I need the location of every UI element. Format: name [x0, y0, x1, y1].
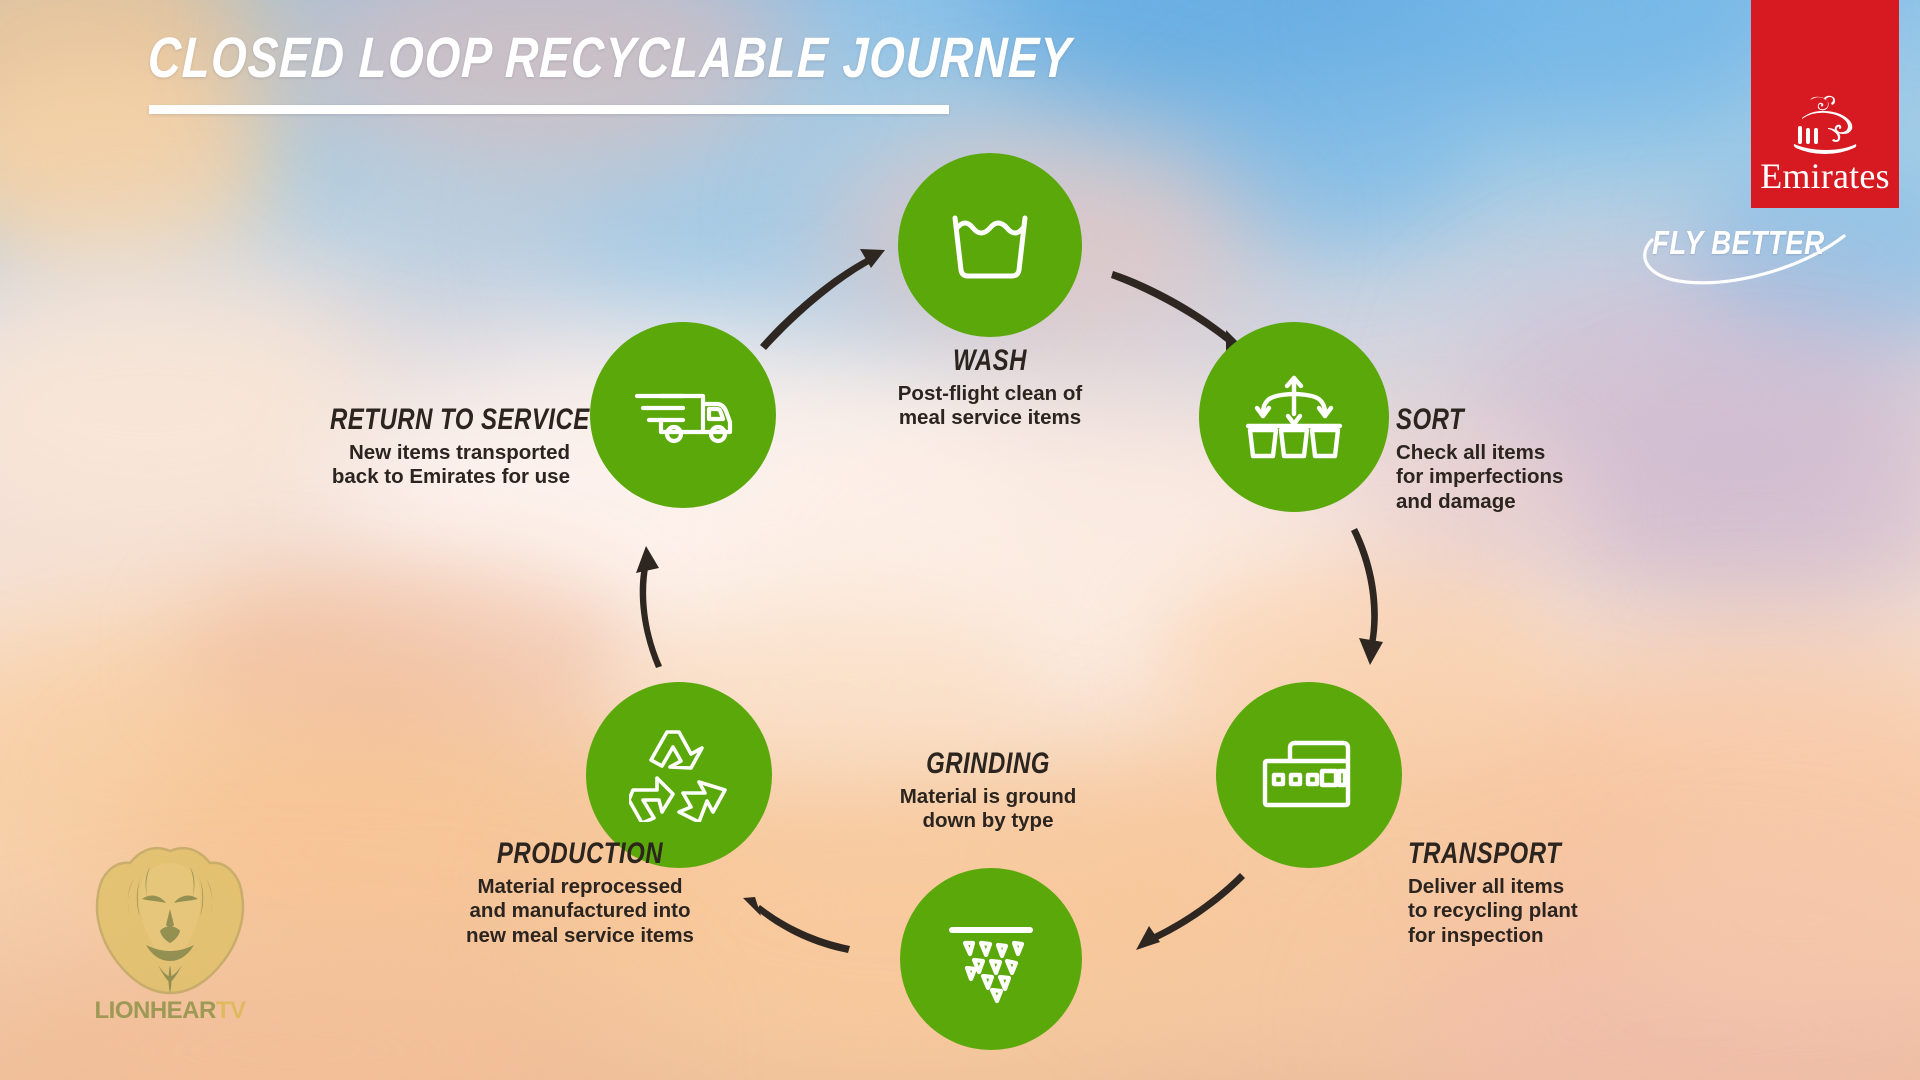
grinder-granules-icon [943, 913, 1039, 1005]
step-return-to-service-label: RETURN TO SERVICE [330, 404, 570, 436]
wash-basin-icon [947, 208, 1033, 282]
step-wash-label: WASH [868, 345, 1111, 377]
step-return-to-service-text: RETURN TO SERVICE New items transported … [270, 404, 570, 490]
watermark-label: LIONHEARTV [80, 997, 260, 1025]
delivery-truck-icon [631, 380, 735, 450]
step-transport-label: TRANSPORT [1408, 838, 1680, 870]
step-return-to-service-description: New items transported back to Emirates f… [270, 441, 570, 490]
emirates-wordmark: Emirates [1760, 158, 1890, 194]
step-grinding-text: GRINDING Material is ground down by type [838, 748, 1138, 834]
step-transport-text: TRANSPORT Deliver all items to recycling… [1408, 838, 1748, 948]
step-wash-description: Post-flight clean of meal service items [838, 382, 1142, 431]
step-transport-description: Deliver all items to recycling plant for… [1408, 875, 1748, 949]
step-grinding-circle[interactable] [900, 868, 1082, 1050]
emirates-logo: Emirates [1751, 0, 1899, 208]
step-sort-text: SORT Check all items for imperfections a… [1396, 404, 1726, 514]
step-wash-circle[interactable] [898, 153, 1082, 337]
sort-arrows-bins-icon [1244, 374, 1344, 460]
title-underline [149, 105, 949, 114]
step-production-label: PRODUCTION [428, 838, 732, 870]
fly-better-text: FLY BETTER [1652, 224, 1825, 262]
infographic-canvas: CLOSED LOOP RECYCLABLE JOURNEY Emirates … [0, 0, 1920, 1080]
step-sort-description: Check all items for imperfections and da… [1396, 441, 1726, 515]
recycle-triangle-icon [629, 728, 729, 822]
watermark-name-part1: LIONHEAR [94, 997, 215, 1024]
fly-better-tagline-block: FLY BETTER [1630, 222, 1860, 288]
emirates-calligraphy-icon [1788, 94, 1862, 156]
step-production-text: PRODUCTION Material reprocessed and manu… [390, 838, 770, 948]
lion-head-icon [80, 845, 260, 995]
step-production-description: Material reprocessed and manufactured in… [390, 875, 770, 949]
step-grinding-label: GRINDING [868, 748, 1108, 780]
step-grinding-description: Material is ground down by type [838, 785, 1138, 834]
step-transport-circle[interactable] [1216, 682, 1402, 868]
step-sort-circle[interactable] [1199, 322, 1389, 512]
watermark-name-part2: TV [216, 997, 246, 1024]
step-wash-text: WASH Post-flight clean of meal service i… [838, 345, 1142, 431]
title-block: CLOSED LOOP RECYCLABLE JOURNEY [148, 28, 1148, 114]
cargo-container-icon [1260, 737, 1358, 813]
step-return-to-service-circle[interactable] [590, 322, 776, 508]
page-title: CLOSED LOOP RECYCLABLE JOURNEY [147, 28, 950, 88]
lionheartv-watermark: LIONHEARTV [80, 845, 260, 1035]
step-sort-label: SORT [1396, 404, 1660, 436]
